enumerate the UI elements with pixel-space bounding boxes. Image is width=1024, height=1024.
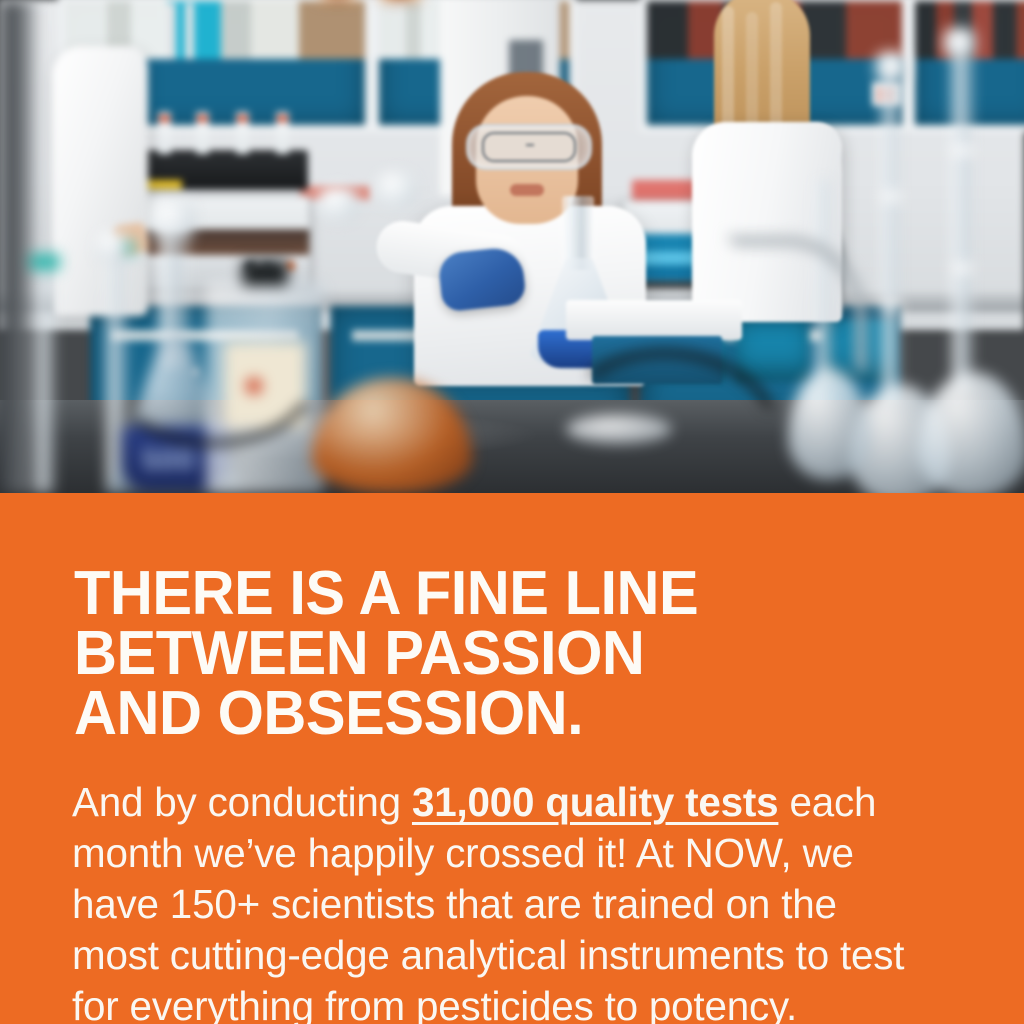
- test-tube-rack: [140, 150, 308, 190]
- volumetric-flask-tall: [862, 72, 922, 493]
- promotional-ad-card: 500: [0, 0, 1024, 1024]
- bottle-cap: [242, 260, 288, 286]
- laboratory-scientists-photo: 500: [0, 0, 1024, 493]
- watch-glass: [566, 414, 672, 444]
- eyeglasses-icon: [482, 132, 576, 162]
- blue-nitrile-glove: [437, 246, 527, 312]
- pipette-bulb: [30, 254, 60, 270]
- flask-volume-label: 500: [142, 444, 195, 478]
- volumetric-flask-tall: [930, 50, 994, 493]
- cabinet-glass-divider: [167, 3, 176, 59]
- body-copy-emphasis: 31,000 quality tests: [412, 779, 778, 825]
- graduated-pipette: [22, 250, 68, 493]
- body-copy-before: And by conducting: [72, 779, 412, 825]
- analytical-balance: [566, 300, 742, 340]
- cabinet-glass-divider: [185, 3, 194, 59]
- flask-stopper: [944, 28, 975, 56]
- amber-column-stopper: [376, 172, 416, 206]
- test-tube: [236, 112, 249, 154]
- flask-stopper: [876, 52, 907, 80]
- test-tube: [196, 112, 209, 154]
- body-copy: And by conducting 31,000 quality tests e…: [72, 777, 929, 1024]
- scientist-mouth: [510, 184, 544, 196]
- test-tube: [158, 112, 171, 154]
- amber-column-stopper: [318, 186, 358, 220]
- flask-stopper: [150, 202, 194, 236]
- page-title: THERE IS A FINE LINE BETWEEN PASSION AND…: [74, 564, 938, 744]
- test-tube: [276, 112, 289, 154]
